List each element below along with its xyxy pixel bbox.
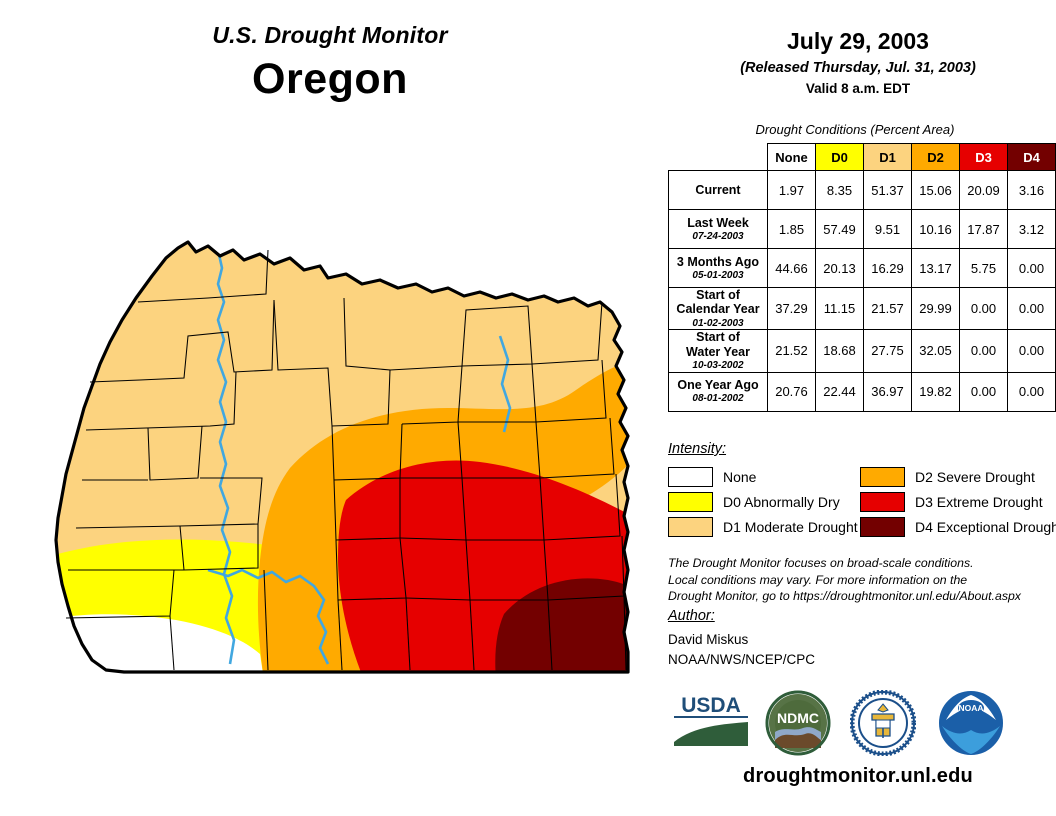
author-agency: NOAA/NWS/NCEP/CPC [668, 650, 815, 670]
legend-label-d2: D2 Severe Drought [915, 469, 1035, 485]
usda-logo-text: USDA [681, 694, 741, 717]
cell-3months-d0: 20.13 [816, 249, 864, 288]
cell-current-d1: 51.37 [864, 171, 912, 210]
cell-current-d0: 8.35 [816, 171, 864, 210]
row-label-date: 01-02-2003 [669, 318, 767, 330]
cell-calyear-d1: 21.57 [864, 288, 912, 330]
cell-calyear-d4: 0.00 [1008, 288, 1056, 330]
legend-column-right: D2 Severe Drought D3 Extreme Drought D4 … [860, 464, 1056, 539]
cell-lastweek-d3: 17.87 [960, 210, 1008, 249]
author-name: David Miskus [668, 630, 815, 650]
cell-calyear-d2: 29.99 [912, 288, 960, 330]
cell-calyear-d3: 0.00 [960, 288, 1008, 330]
cell-current-d2: 15.06 [912, 171, 960, 210]
map-state-title: Oregon [0, 55, 660, 104]
row-label-current: Current [669, 171, 768, 210]
cell-3months-d4: 0.00 [1008, 249, 1056, 288]
legend-label-d1: D1 Moderate Drought [723, 519, 858, 535]
row-label-date: 10-03-2002 [669, 360, 767, 372]
legend-swatch-d3 [860, 492, 905, 512]
doc-logo [850, 690, 916, 756]
cell-3months-d3: 5.75 [960, 249, 1008, 288]
row-label-text: One Year Ago [669, 378, 767, 392]
ndmc-logo-text: NDMC [777, 710, 819, 726]
oregon-drought-map-svg[interactable] [28, 240, 643, 680]
row-label-date: 07-24-2003 [669, 231, 767, 243]
cell-oneyear-d2: 19.82 [912, 372, 960, 411]
cell-oneyear-d0: 22.44 [816, 372, 864, 411]
legend-label-d4: D4 Exceptional Drought [915, 519, 1056, 535]
table-row: Start ofWater Year 10-03-2002 21.52 18.6… [669, 330, 1056, 372]
legend-item-none: None [668, 464, 858, 489]
row-label-date: 08-01-2002 [669, 393, 767, 405]
cell-wateryear-d3: 0.00 [960, 330, 1008, 372]
drought-map[interactable] [28, 240, 643, 680]
cell-lastweek-d2: 10.16 [912, 210, 960, 249]
row-label-text: Last Week [669, 216, 767, 230]
noaa-logo: NOAA [938, 690, 1004, 756]
cell-current-d3: 20.09 [960, 171, 1008, 210]
cell-lastweek-d4: 3.12 [1008, 210, 1056, 249]
table-header-row: None D0 D1 D2 D3 D4 [669, 144, 1056, 171]
column-header-d0: D0 [816, 144, 864, 171]
drought-conditions-table: None D0 D1 D2 D3 D4 Current 1.97 8.35 51… [668, 143, 1056, 412]
author-heading: Author: [668, 608, 715, 624]
map-supertitle: U.S. Drought Monitor [0, 22, 660, 49]
site-url[interactable]: droughtmonitor.unl.edu [660, 765, 1056, 788]
table-row: Current 1.97 8.35 51.37 15.06 20.09 3.16 [669, 171, 1056, 210]
cell-wateryear-d1: 27.75 [864, 330, 912, 372]
cell-oneyear-d4: 0.00 [1008, 372, 1056, 411]
cell-lastweek-none: 1.85 [768, 210, 816, 249]
row-label-start-water-year: Start ofWater Year 10-03-2002 [669, 330, 768, 372]
map-title-block: U.S. Drought Monitor Oregon [0, 22, 660, 104]
cell-current-none: 1.97 [768, 171, 816, 210]
table-row: One Year Ago 08-01-2002 20.76 22.44 36.9… [669, 372, 1056, 411]
cell-calyear-none: 37.29 [768, 288, 816, 330]
row-label-last-week: Last Week 07-24-2003 [669, 210, 768, 249]
release-valid-time: Valid 8 a.m. EDT [660, 81, 1056, 96]
table-caption: Drought Conditions (Percent Area) [660, 122, 1050, 137]
table-body: Current 1.97 8.35 51.37 15.06 20.09 3.16… [669, 171, 1056, 412]
row-label-3-months-ago: 3 Months Ago 05-01-2003 [669, 249, 768, 288]
table-corner-cell [669, 144, 768, 171]
column-header-d4: D4 [1008, 144, 1056, 171]
intensity-heading: Intensity: [668, 441, 726, 457]
map-drought-layers [28, 240, 643, 680]
row-label-one-year-ago: One Year Ago 08-01-2002 [669, 372, 768, 411]
column-header-d3: D3 [960, 144, 1008, 171]
author-block: David Miskus NOAA/NWS/NCEP/CPC [668, 630, 815, 669]
legend-label-d3: D3 Extreme Drought [915, 494, 1043, 510]
column-header-none: None [768, 144, 816, 171]
row-label-text: Current [669, 183, 767, 197]
ndmc-logo: NDMC [765, 690, 831, 756]
legend-column-left: None D0 Abnormally Dry D1 Moderate Droug… [668, 464, 858, 539]
legend-swatch-d1 [668, 517, 713, 537]
legend-label-d0: D0 Abnormally Dry [723, 494, 840, 510]
release-subtitle: (Released Thursday, Jul. 31, 2003) [660, 60, 1056, 76]
column-header-d2: D2 [912, 144, 960, 171]
cell-calyear-d0: 11.15 [816, 288, 864, 330]
table-row: 3 Months Ago 05-01-2003 44.66 20.13 16.2… [669, 249, 1056, 288]
row-label-text: Start ofWater Year [669, 330, 767, 359]
row-label-date: 05-01-2003 [669, 270, 767, 282]
row-label-start-calendar-year: Start ofCalendar Year 01-02-2003 [669, 288, 768, 330]
legend-item-d2: D2 Severe Drought [860, 464, 1056, 489]
partner-logos: USDA NDMC [660, 690, 1056, 760]
legend-swatch-d0 [668, 492, 713, 512]
cell-wateryear-d0: 18.68 [816, 330, 864, 372]
legend-item-d0: D0 Abnormally Dry [668, 489, 858, 514]
cell-wateryear-d2: 32.05 [912, 330, 960, 372]
disclaimer-line-3[interactable]: Drought Monitor, go to https://droughtmo… [668, 588, 1048, 605]
cell-current-d4: 3.16 [1008, 171, 1056, 210]
cell-oneyear-none: 20.76 [768, 372, 816, 411]
cell-wateryear-d4: 0.00 [1008, 330, 1056, 372]
row-label-text: Start ofCalendar Year [669, 288, 767, 317]
legend-swatch-d2 [860, 467, 905, 487]
release-block: July 29, 2003 (Released Thursday, Jul. 3… [660, 28, 1056, 96]
cell-3months-d2: 13.17 [912, 249, 960, 288]
release-date: July 29, 2003 [660, 28, 1056, 55]
cell-lastweek-d1: 9.51 [864, 210, 912, 249]
legend-swatch-none [668, 467, 713, 487]
cell-oneyear-d1: 36.97 [864, 372, 912, 411]
disclaimer-line-2: Local conditions may vary. For more info… [668, 572, 1048, 589]
legend-item-d3: D3 Extreme Drought [860, 489, 1056, 514]
legend-item-d1: D1 Moderate Drought [668, 514, 858, 539]
noaa-logo-text: NOAA [958, 703, 983, 713]
map-panel: U.S. Drought Monitor Oregon [0, 0, 660, 816]
cell-3months-d1: 16.29 [864, 249, 912, 288]
usda-logo: USDA [670, 690, 752, 752]
cell-oneyear-d3: 0.00 [960, 372, 1008, 411]
disclaimer-line-1: The Drought Monitor focuses on broad-sca… [668, 555, 1048, 572]
cell-lastweek-d0: 57.49 [816, 210, 864, 249]
table-row: Last Week 07-24-2003 1.85 57.49 9.51 10.… [669, 210, 1056, 249]
row-label-text: 3 Months Ago [669, 255, 767, 269]
cell-wateryear-none: 21.52 [768, 330, 816, 372]
legend-label-none: None [723, 469, 756, 485]
column-header-d1: D1 [864, 144, 912, 171]
table-row: Start ofCalendar Year 01-02-2003 37.29 1… [669, 288, 1056, 330]
legend-swatch-d4 [860, 517, 905, 537]
legend-item-d4: D4 Exceptional Drought [860, 514, 1056, 539]
disclaimer-text: The Drought Monitor focuses on broad-sca… [668, 555, 1048, 605]
right-panel: July 29, 2003 (Released Thursday, Jul. 3… [660, 0, 1056, 816]
cell-3months-none: 44.66 [768, 249, 816, 288]
